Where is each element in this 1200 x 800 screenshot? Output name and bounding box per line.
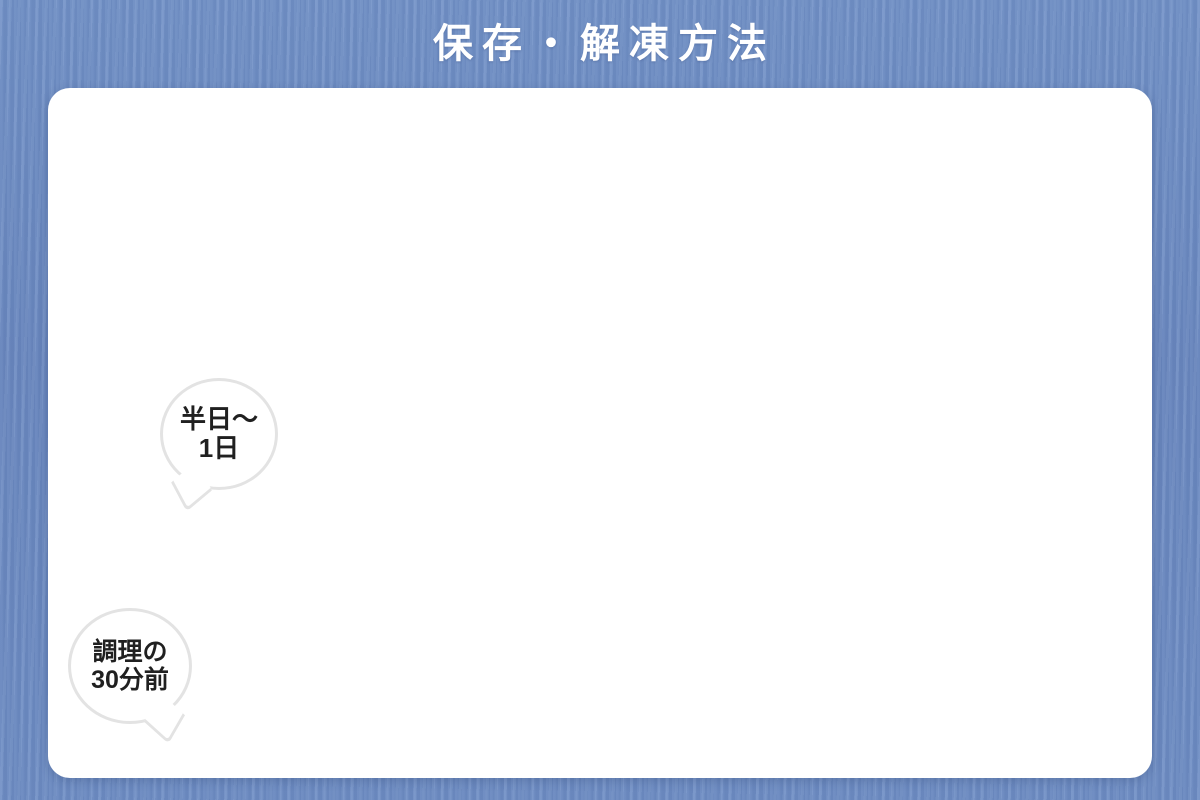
bubble-line: 半日〜 <box>180 405 258 434</box>
bubble-line: 1日 <box>199 434 239 463</box>
infographic-page: 保存・解凍方法 <box>0 0 1200 800</box>
thirty-minutes-bubble: 調理の 30分前 <box>68 608 192 724</box>
bubble-line: 30分前 <box>91 666 169 694</box>
bubble-line: 調理の <box>92 638 167 666</box>
half-day-bubble: 半日〜 1日 <box>160 378 278 490</box>
page-title: 保存・解凍方法 <box>0 20 1200 68</box>
